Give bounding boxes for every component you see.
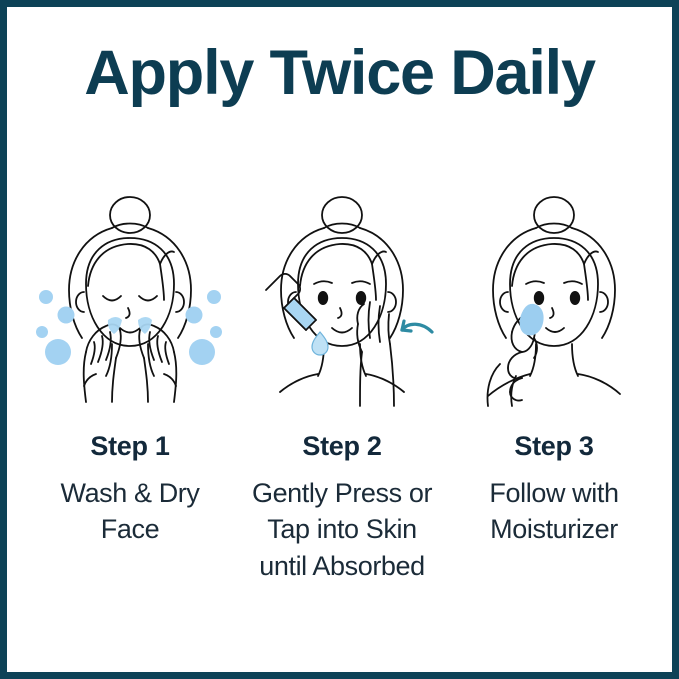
step-heading: Step 1 (90, 432, 169, 462)
woman-applying-serum-dropper-icon (236, 180, 448, 408)
step-description: Wash & Dry Face (60, 475, 199, 548)
step-line: Gently Press or (252, 475, 432, 511)
step-heading: Step 2 (302, 432, 381, 462)
step-line: Follow with (489, 475, 618, 511)
step-heading: Step 3 (514, 432, 593, 462)
step-card-3: Step 3 Follow with Moisturizer (448, 180, 660, 548)
woman-washing-face-with-bubbles-icon (24, 180, 236, 408)
step-card-2: Step 2 Gently Press or Tap into Skin unt… (236, 180, 448, 584)
poster-inner-panel: Apply Twice Daily (10, 10, 669, 669)
direction-arrow-icon (402, 321, 432, 332)
page-title: Apply Twice Daily (10, 42, 669, 105)
step-line: Wash & Dry (60, 475, 199, 511)
moisturizer-blob (520, 304, 544, 336)
step-line: Face (60, 511, 199, 547)
step-description: Follow with Moisturizer (489, 475, 618, 548)
step-line: Moisturizer (489, 511, 618, 547)
woman-applying-moisturizer-icon (448, 180, 660, 408)
steps-row: Step 1 Wash & Dry Face (10, 180, 669, 584)
step-line: Tap into Skin (252, 511, 432, 547)
step-line: until Absorbed (252, 548, 432, 584)
step-card-1: Step 1 Wash & Dry Face (24, 180, 236, 548)
step-description: Gently Press or Tap into Skin until Abso… (252, 475, 432, 584)
instruction-poster: Apply Twice Daily (0, 0, 679, 679)
